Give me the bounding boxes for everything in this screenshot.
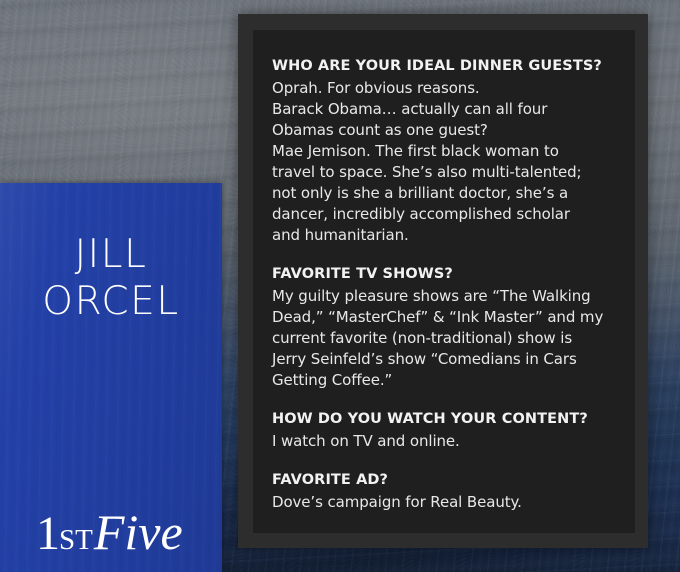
person-name: JILL ORCEL	[0, 231, 222, 325]
qa-block: HOW DO YOU WATCH YOUR CONTENT? I watch o…	[272, 409, 617, 452]
brand-logo-word: Five	[94, 504, 183, 560]
brand-logo-ordinal: ST	[59, 524, 93, 556]
qa-block: FAVORITE AD? Dove’s campaign for Real Be…	[272, 470, 617, 513]
qa-answer: Dove’s campaign for Real Beauty.	[272, 492, 617, 513]
name-panel: JILL ORCEL 1STFive	[0, 183, 222, 572]
quote-panel-body: WHO ARE YOUR IDEAL DINNER GUESTS? Oprah.…	[253, 30, 635, 533]
qa-block: WHO ARE YOUR IDEAL DINNER GUESTS? Oprah.…	[272, 56, 617, 246]
qa-question: FAVORITE AD?	[272, 470, 617, 491]
qa-question: HOW DO YOU WATCH YOUR CONTENT?	[272, 409, 617, 430]
qa-question: FAVORITE TV SHOWS?	[272, 264, 617, 285]
qa-question: WHO ARE YOUR IDEAL DINNER GUESTS?	[272, 56, 617, 77]
brand-logo-1stfive: 1STFive	[36, 507, 183, 558]
qa-answer: I watch on TV and online.	[272, 431, 617, 452]
profile-card: JILL ORCEL 1STFive WHO ARE YOUR IDEAL DI…	[0, 0, 680, 572]
qa-answer: Oprah. For obvious reasons. Barack Obama…	[272, 78, 617, 246]
qa-block: FAVORITE TV SHOWS? My guilty pleasure sh…	[272, 264, 617, 391]
brand-logo-numeral: 1	[36, 507, 59, 560]
quote-panel-frame: WHO ARE YOUR IDEAL DINNER GUESTS? Oprah.…	[238, 14, 648, 548]
qa-answer: My guilty pleasure shows are “The Walkin…	[272, 286, 617, 391]
